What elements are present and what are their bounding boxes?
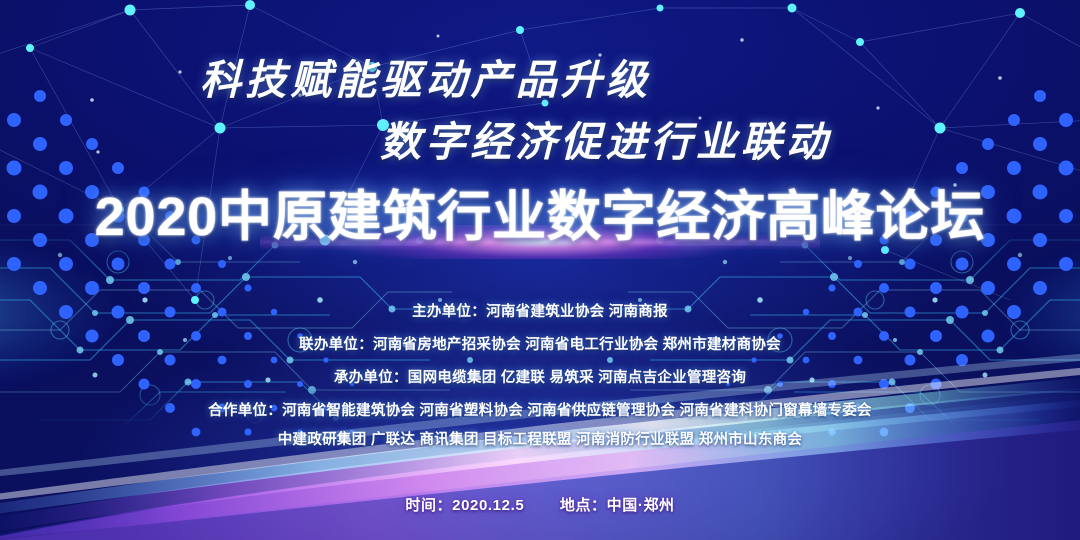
organizer-line-co-host: 联办单位：河南省房地产招采协会 河南省电工行业协会 郑州市建材商协会 (0, 333, 1080, 354)
banner-content: 科技赋能驱动产品升级 数字经济促进行业联动 2020中原建筑行业数字经济高峰论坛… (0, 0, 1080, 540)
organizer-line-host: 主办单位：河南省建筑业协会 河南商报 (0, 300, 1080, 321)
event-time-place: 时间：2020.12.5 地点：中国·郑州 (0, 494, 1080, 515)
calligraphy-headline-2: 数字经济促进行业联动 (380, 108, 831, 168)
organizer-line-undertaker: 承办单位：国网电缆集团 亿建联 易筑采 河南点吉企业管理咨询 (0, 366, 1080, 387)
page-title: 2020中原建筑行业数字经济高峰论坛 (0, 172, 1080, 251)
organizer-list: 主办单位：河南省建筑业协会 河南商报 联办单位：河南省房地产招采协会 河南省电工… (0, 300, 1080, 461)
event-place: 地点：中国·郑州 (560, 497, 675, 514)
organizer-line-partners-continued: 中建政研集团 广联达 商讯集团 目标工程联盟 河南消防行业联盟 郑州市山东商会 (0, 428, 1080, 449)
conference-banner: 科技赋能驱动产品升级 数字经济促进行业联动 2020中原建筑行业数字经济高峰论坛… (0, 0, 1080, 540)
organizer-line-partners: 合作单位：河南省智能建筑协会 河南省塑料协会 河南省供应链管理协会 河南省建科协… (0, 399, 1080, 420)
event-time: 时间：2020.12.5 (405, 497, 524, 514)
calligraphy-headline-1: 科技赋能驱动产品升级 (200, 46, 651, 106)
